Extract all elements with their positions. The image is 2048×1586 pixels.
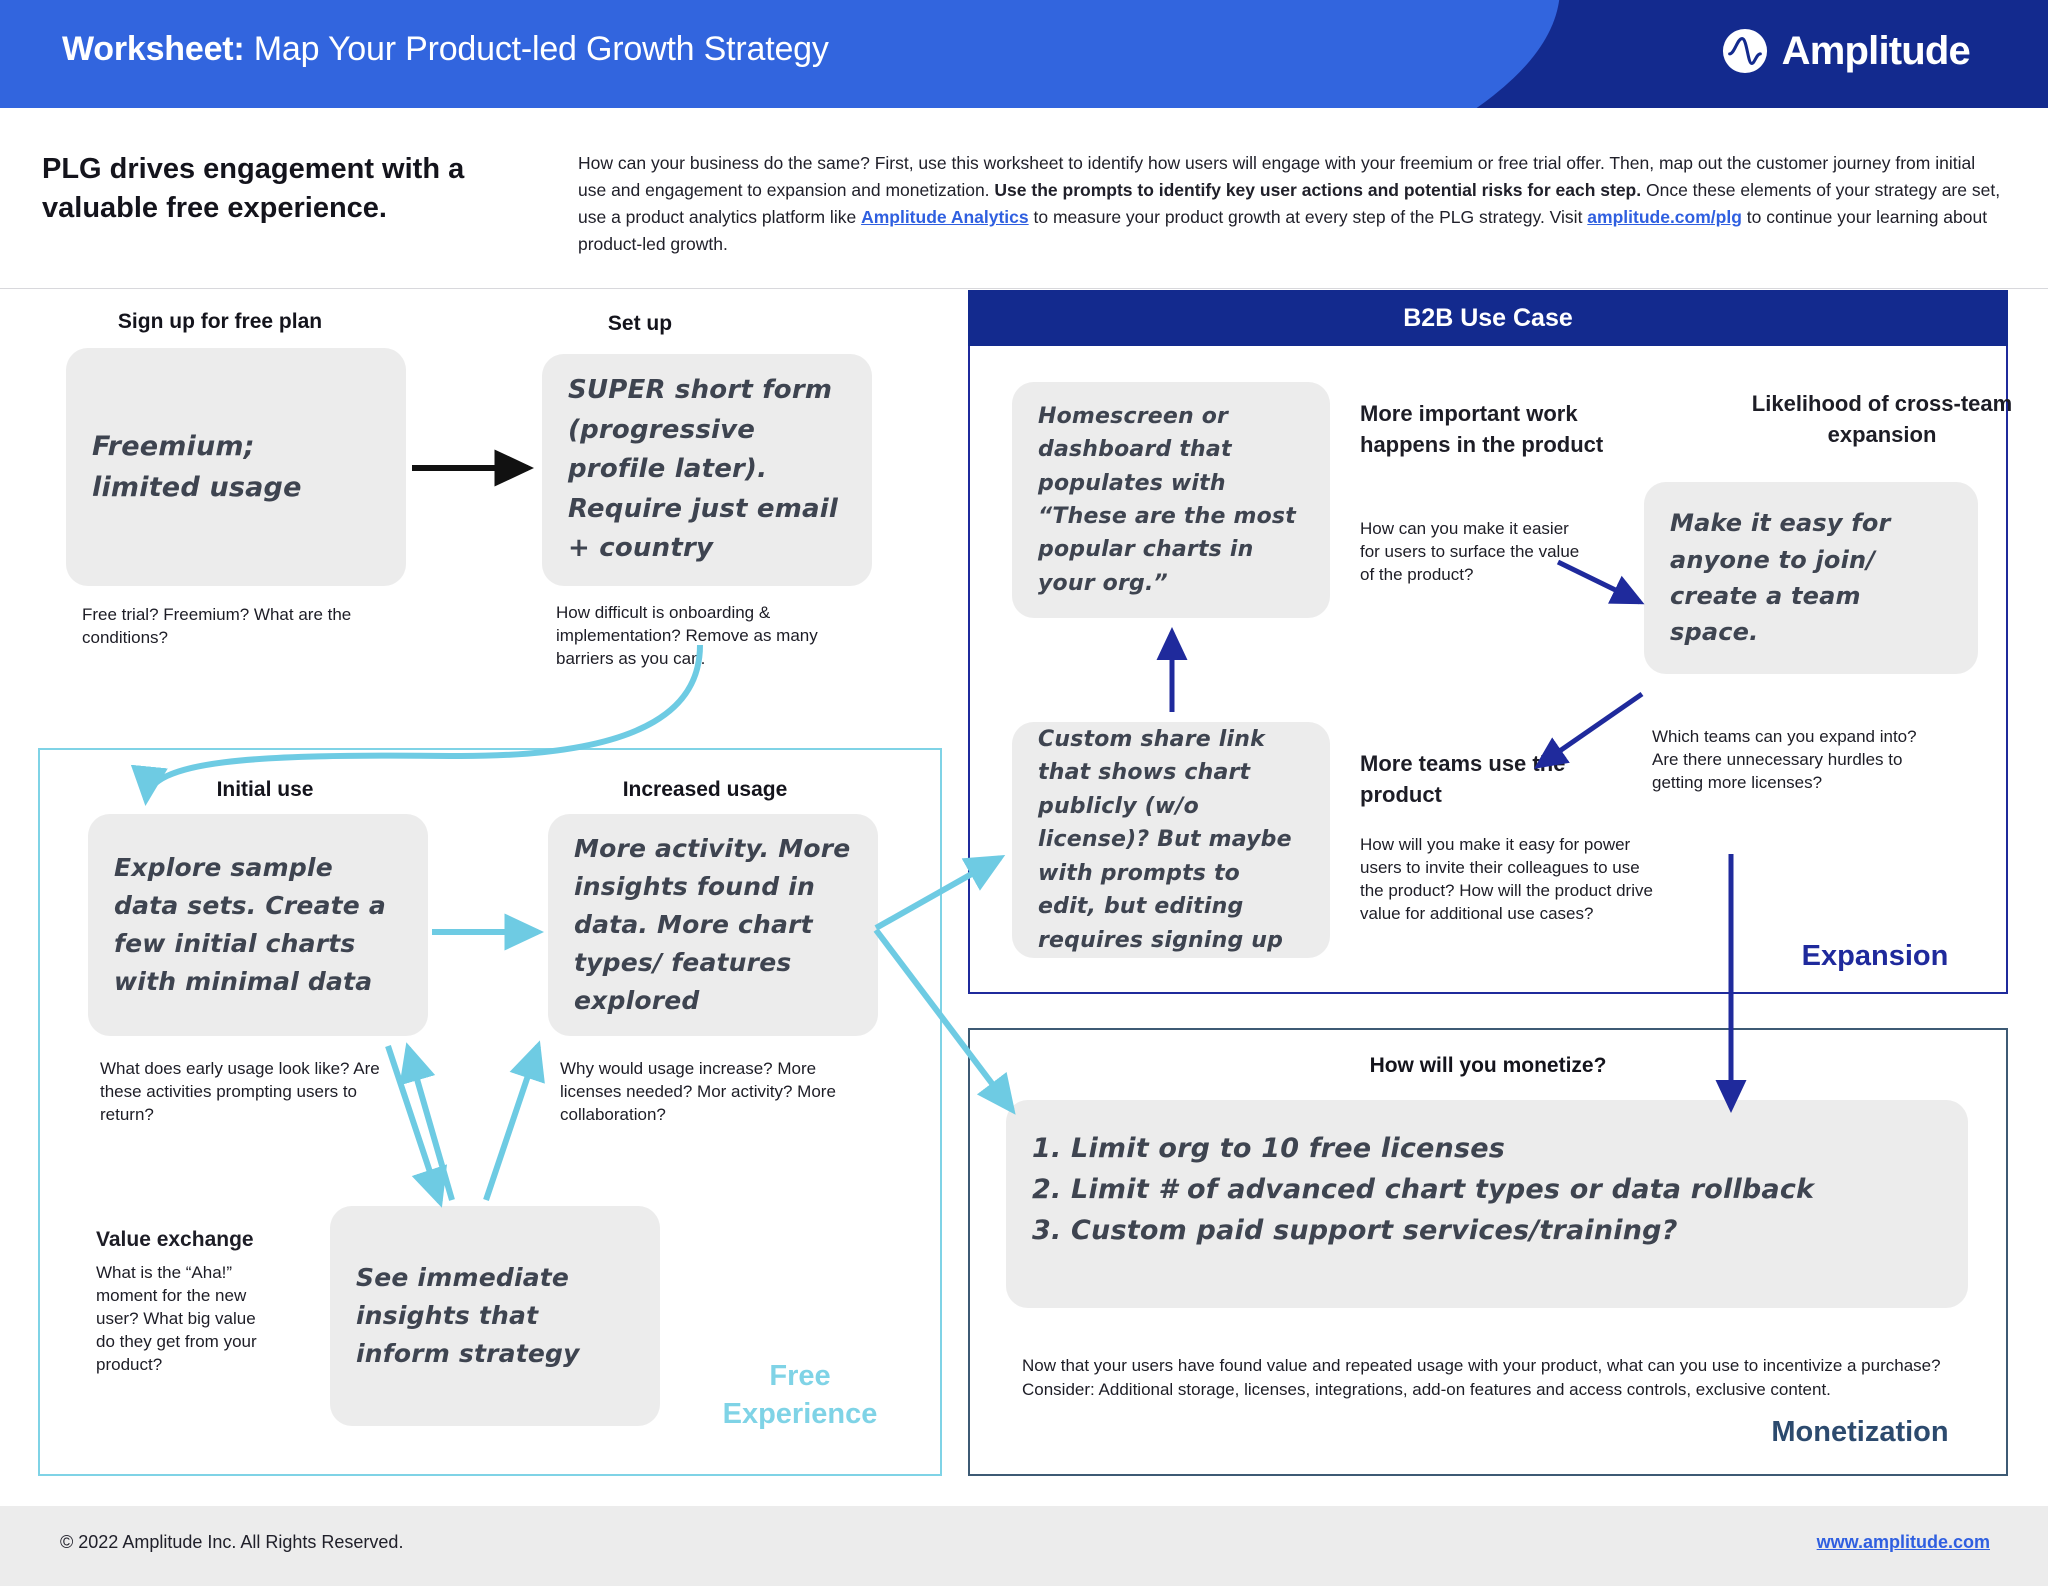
prompt-setup: How difficult is onboarding & implementa… bbox=[556, 602, 856, 671]
note-card-monetization-list: 1. Limit org to 10 free licenses 2. Limi… bbox=[1006, 1100, 1968, 1308]
note-card-initial-use: Explore sample data sets. Create a few i… bbox=[88, 814, 428, 1036]
prompt-initial-use: What does early usage look like? Are the… bbox=[100, 1058, 400, 1127]
expansion-label: Expansion bbox=[1760, 940, 1990, 973]
worksheet-page: Worksheet: Map Your Product-led Growth S… bbox=[0, 0, 2048, 1586]
page-title-rest: Map Your Product-led Growth Strategy bbox=[245, 30, 829, 68]
note-card-increased-usage: More activity. More insights found in da… bbox=[548, 814, 878, 1036]
prompt-team-expansion: Which teams can you expand into? Are the… bbox=[1652, 726, 1942, 795]
step-title-initial-use: Initial use bbox=[140, 778, 390, 802]
note-text-signup: Freemium; limited usage bbox=[66, 426, 406, 508]
subhead-value-exchange: Value exchange bbox=[96, 1226, 356, 1254]
monetization-item: 1. Limit org to 10 free licenses bbox=[1032, 1128, 1942, 1169]
note-text-share-link: Custom share link that shows chart publi… bbox=[1012, 723, 1330, 957]
intro-text-bold: Use the prompts to identify key user act… bbox=[994, 180, 1641, 200]
note-text-team-space: Make it easy for anyone to join/ create … bbox=[1644, 505, 1978, 651]
note-card-homescreen: Homescreen or dashboard that populates w… bbox=[1012, 382, 1330, 618]
step-title-signup: Sign up for free plan bbox=[70, 310, 370, 334]
note-card-setup: SUPER short form (progressive profile la… bbox=[542, 354, 872, 586]
intro-headline: PLG drives engagement with a valuable fr… bbox=[42, 150, 582, 228]
footer-copyright: © 2022 Amplitude Inc. All Rights Reserve… bbox=[60, 1532, 403, 1553]
note-text-increased-usage: More activity. More insights found in da… bbox=[548, 830, 878, 1020]
note-text-initial-use: Explore sample data sets. Create a few i… bbox=[88, 849, 428, 1001]
prompt-value-exchange: What is the “Aha!” moment for the new us… bbox=[96, 1262, 276, 1377]
amplitude-analytics-link[interactable]: Amplitude Analytics bbox=[861, 207, 1029, 227]
header-divider bbox=[0, 288, 2048, 289]
footer-website-link[interactable]: www.amplitude.com bbox=[1817, 1532, 1990, 1553]
amplitude-logo: Amplitude bbox=[1722, 28, 1970, 74]
prompt-signup: Free trial? Freemium? What are the condi… bbox=[82, 604, 402, 650]
note-card-immediate-insights: See immediate insights that inform strat… bbox=[330, 1206, 660, 1426]
subhead-more-teams: More teams use the product bbox=[1360, 748, 1630, 810]
monetization-label: Monetization bbox=[1730, 1416, 1990, 1449]
step-title-increased-usage: Increased usage bbox=[560, 778, 850, 802]
page-header: Worksheet: Map Your Product-led Growth S… bbox=[0, 0, 2048, 108]
note-text-immediate-insights: See immediate insights that inform strat… bbox=[330, 1259, 660, 1373]
intro-section: PLG drives engagement with a valuable fr… bbox=[0, 108, 2048, 288]
amplitude-logo-icon bbox=[1722, 28, 1768, 74]
note-card-signup: Freemium; limited usage bbox=[66, 348, 406, 586]
note-card-team-space: Make it easy for anyone to join/ create … bbox=[1644, 482, 1978, 674]
intro-paragraph: How can your business do the same? First… bbox=[578, 150, 2008, 259]
prompt-monetization: Now that your users have found value and… bbox=[1022, 1354, 1952, 1402]
amplitude-plg-link[interactable]: amplitude.com/plg bbox=[1587, 207, 1742, 227]
prompt-increased-usage: Why would usage increase? More licenses … bbox=[560, 1058, 850, 1127]
subhead-likelihood-expansion: Likelihood of cross-team expansion bbox=[1712, 388, 2048, 450]
subhead-important-work: More important work happens in the produ… bbox=[1360, 398, 1620, 460]
amplitude-logo-text: Amplitude bbox=[1782, 29, 1970, 74]
b2b-use-case-banner: B2B Use Case bbox=[968, 290, 2008, 346]
monetization-list: 1. Limit org to 10 free licenses 2. Limi… bbox=[1006, 1100, 1968, 1251]
page-title: Worksheet: Map Your Product-led Growth S… bbox=[62, 30, 829, 69]
intro-text-3: to measure your product growth at every … bbox=[1029, 207, 1588, 227]
page-title-bold: Worksheet: bbox=[62, 30, 245, 68]
step-title-setup: Set up bbox=[540, 312, 740, 336]
note-card-share-link: Custom share link that shows chart publi… bbox=[1012, 722, 1330, 958]
monetization-item: 2. Limit # of advanced chart types or da… bbox=[1032, 1169, 1942, 1210]
note-text-homescreen: Homescreen or dashboard that populates w… bbox=[1012, 400, 1330, 601]
free-experience-label: Free Experience bbox=[690, 1358, 910, 1433]
prompt-more-teams: How will you make it easy for power user… bbox=[1360, 834, 1660, 926]
monetization-item: 3. Custom paid support services/training… bbox=[1032, 1210, 1942, 1251]
prompt-important-work: How can you make it easier for users to … bbox=[1360, 518, 1590, 587]
note-text-setup: SUPER short form (progressive profile la… bbox=[542, 371, 872, 569]
page-footer: © 2022 Amplitude Inc. All Rights Reserve… bbox=[0, 1506, 2048, 1586]
monetization-title: How will you monetize? bbox=[1068, 1054, 1908, 1078]
